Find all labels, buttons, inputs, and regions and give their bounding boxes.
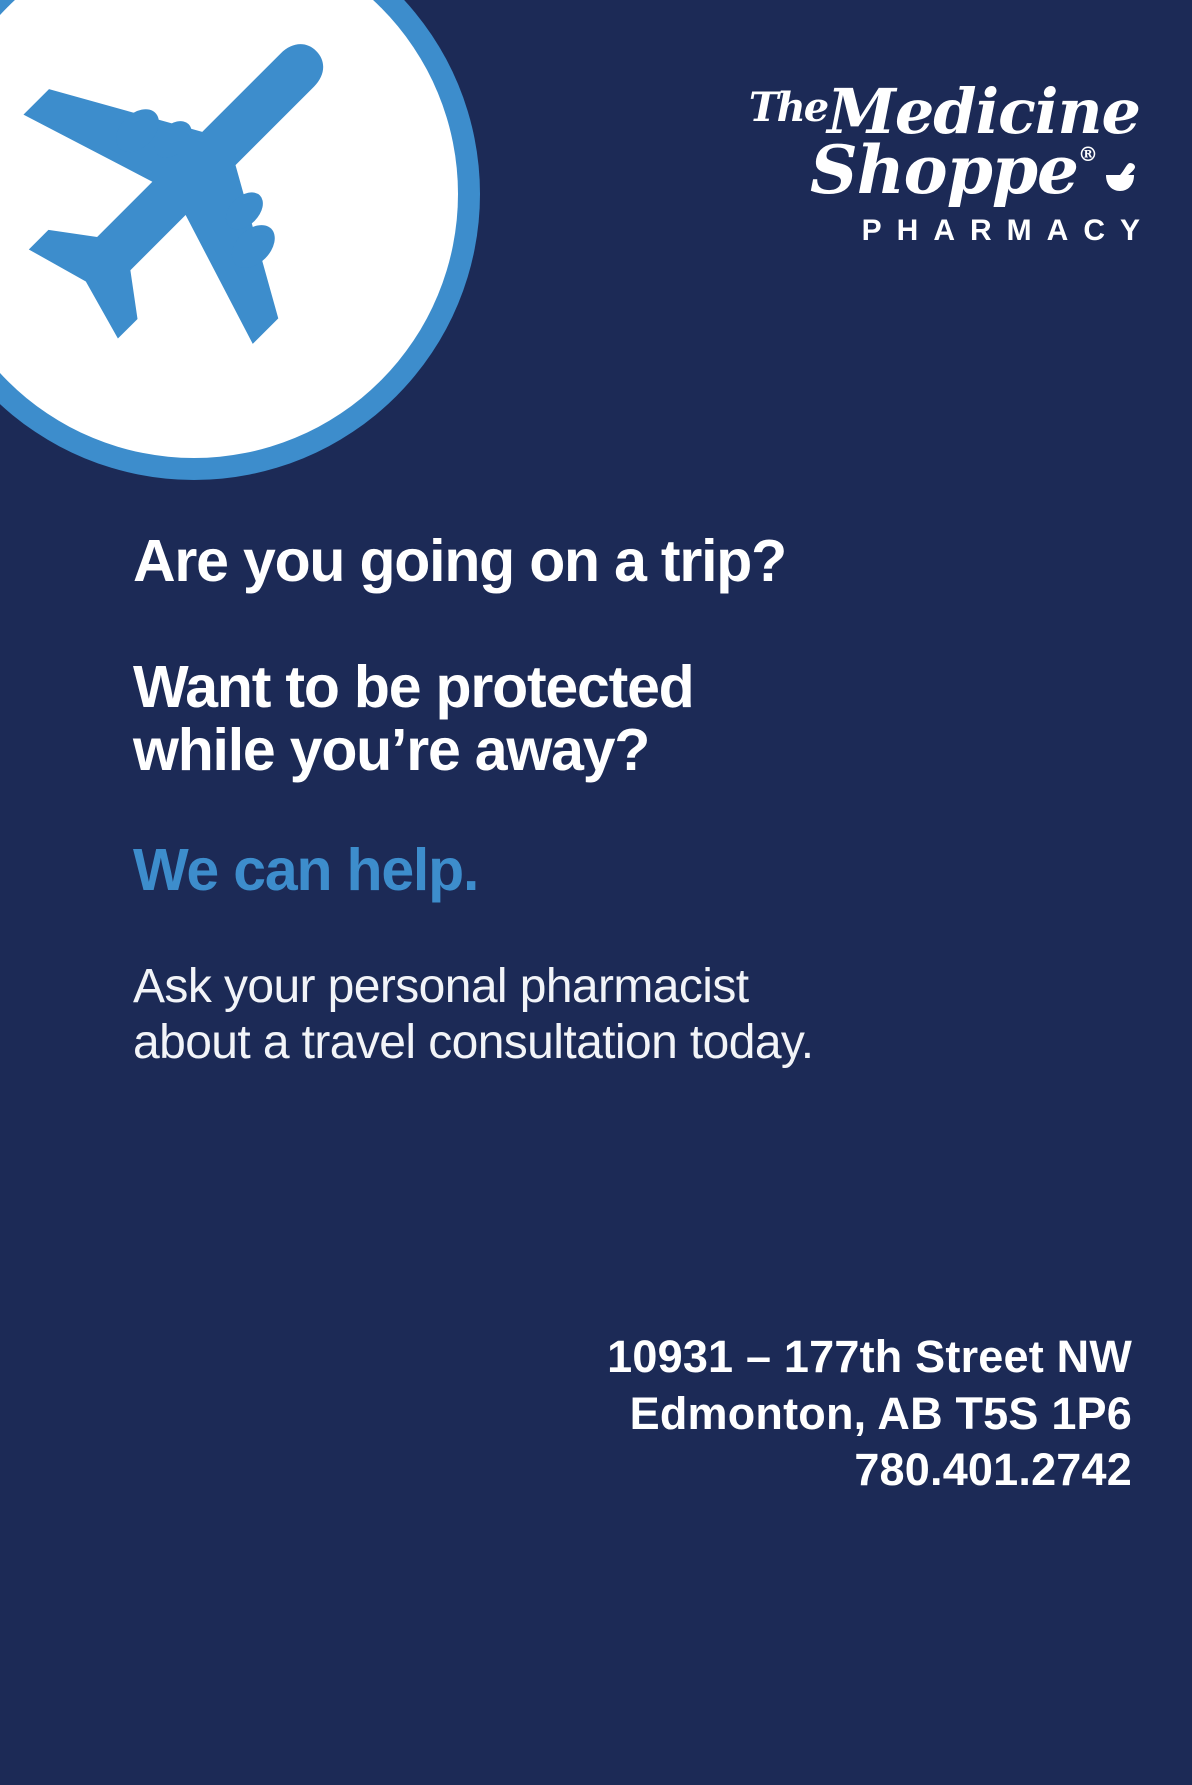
logo-the: The bbox=[749, 84, 827, 131]
accent-line: We can help. bbox=[133, 839, 1033, 903]
airplane-badge bbox=[0, 0, 480, 480]
airplane-icon bbox=[0, 0, 458, 458]
airplane-badge-inner bbox=[0, 0, 458, 458]
poster-canvas: TheMedicine Shoppe® PHARMACY Are you goi… bbox=[0, 0, 1192, 1785]
registered-mark-icon: ® bbox=[1078, 142, 1098, 166]
headline-secondary: Want to be protected while you’re away? bbox=[133, 656, 1033, 783]
address-city: Edmonton, AB T5S 1P6 bbox=[607, 1386, 1132, 1443]
brand-logo: TheMedicine Shoppe® PHARMACY bbox=[720, 82, 1140, 248]
logo-shoppe: Shoppe bbox=[810, 131, 1078, 209]
copy-block: Are you going on a trip? Want to be prot… bbox=[133, 530, 1033, 1071]
headline-primary: Are you going on a trip? bbox=[133, 530, 1033, 594]
body-copy: Ask your personal pharmacist about a tra… bbox=[133, 959, 1033, 1071]
address-block: 10931 – 177th Street NW Edmonton, AB T5S… bbox=[607, 1329, 1132, 1499]
address-phone[interactable]: 780.401.2742 bbox=[607, 1442, 1132, 1499]
logo-pharmacy: PHARMACY bbox=[720, 214, 1155, 248]
logo-line-shoppe: Shoppe® bbox=[720, 138, 1140, 203]
mortar-and-pestle-icon bbox=[1100, 144, 1140, 184]
address-street: 10931 – 177th Street NW bbox=[607, 1329, 1132, 1386]
